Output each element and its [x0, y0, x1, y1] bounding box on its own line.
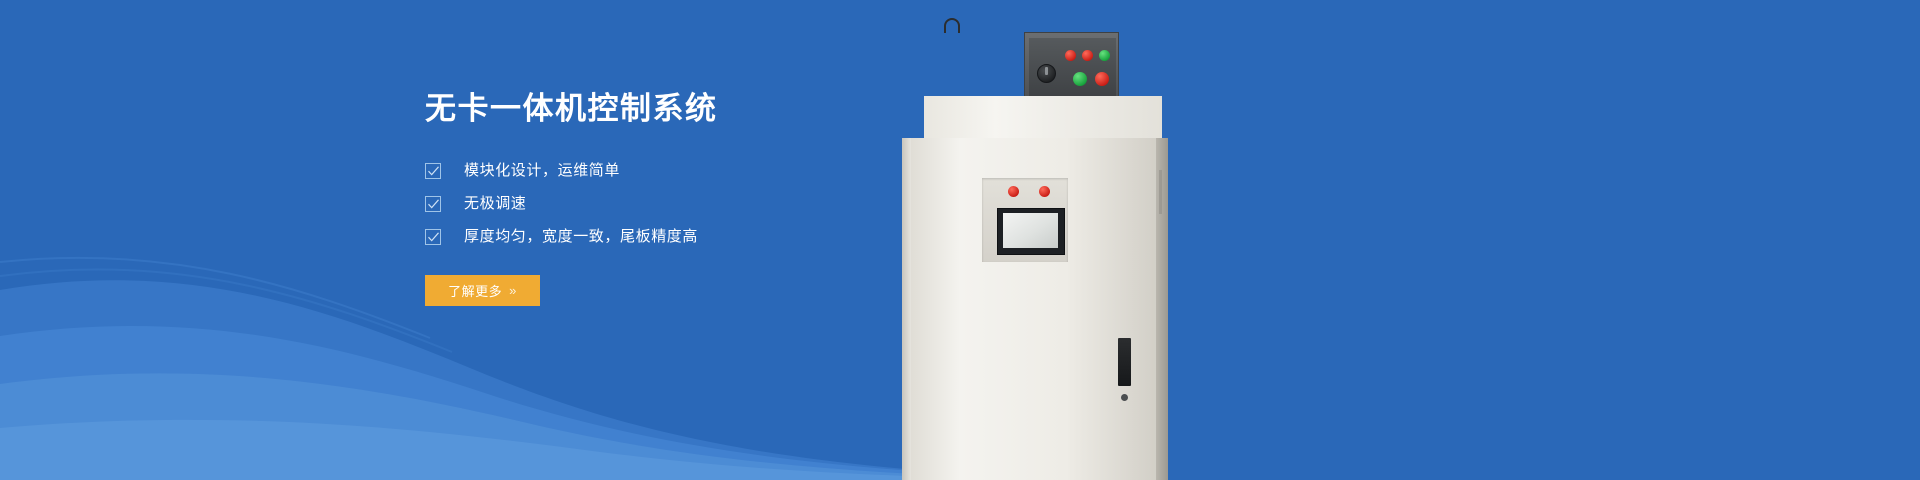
- learn-more-label: 了解更多: [448, 281, 502, 300]
- feature-list: 模块化设计，运维简单 无极调速 厚度均匀，宽度一致，尾板精度高: [425, 154, 895, 253]
- learn-more-button[interactable]: 了解更多 »: [425, 275, 540, 306]
- check-icon: [425, 196, 441, 212]
- selector-knob[interactable]: [1037, 64, 1056, 83]
- hmi-lamp-red-left[interactable]: [1008, 186, 1019, 197]
- industrial-control-cabinet-photo: [898, 0, 1188, 480]
- feature-label: 厚度均匀，宽度一致，尾板精度高: [464, 227, 698, 247]
- indicator-lamp-red-1[interactable]: [1065, 50, 1076, 61]
- push-button-red[interactable]: [1095, 72, 1109, 86]
- check-icon: [425, 229, 441, 245]
- control-box-face: [1029, 38, 1116, 96]
- push-button-green[interactable]: [1073, 72, 1087, 86]
- cabinet-door-lock-strip[interactable]: [1118, 338, 1131, 386]
- feature-label: 模块化设计，运维简单: [464, 161, 620, 181]
- antenna-loop: [944, 18, 960, 33]
- cabinet-right-edge: [1156, 138, 1168, 480]
- indicator-lamp-red-2[interactable]: [1082, 50, 1093, 61]
- cabinet-lock-screw: [1121, 394, 1128, 401]
- cabinet-left-shading: [902, 138, 911, 480]
- hero-banner: 无卡一体机控制系统 模块化设计，运维简单 无极调速: [0, 0, 1920, 480]
- feature-label: 无极调速: [464, 194, 526, 214]
- page-title: 无卡一体机控制系统: [425, 88, 895, 130]
- list-item: 无极调速: [425, 187, 895, 220]
- check-icon: [425, 163, 441, 179]
- hero-content: 无卡一体机控制系统 模块化设计，运维简单 无极调速: [425, 88, 895, 306]
- list-item: 模块化设计，运维简单: [425, 154, 895, 187]
- indicator-lamp-green-1[interactable]: [1099, 50, 1110, 61]
- cabinet-top-cap: [924, 96, 1162, 138]
- top-control-box: [1024, 32, 1119, 100]
- hmi-lamp-red-right[interactable]: [1039, 186, 1050, 197]
- double-chevron-right-icon: »: [509, 284, 517, 297]
- cabinet-door-seam: [1159, 170, 1162, 214]
- cta-wrapper: 了解更多 »: [425, 275, 895, 306]
- hmi-touchscreen[interactable]: [1003, 213, 1058, 248]
- list-item: 厚度均匀，宽度一致，尾板精度高: [425, 220, 895, 253]
